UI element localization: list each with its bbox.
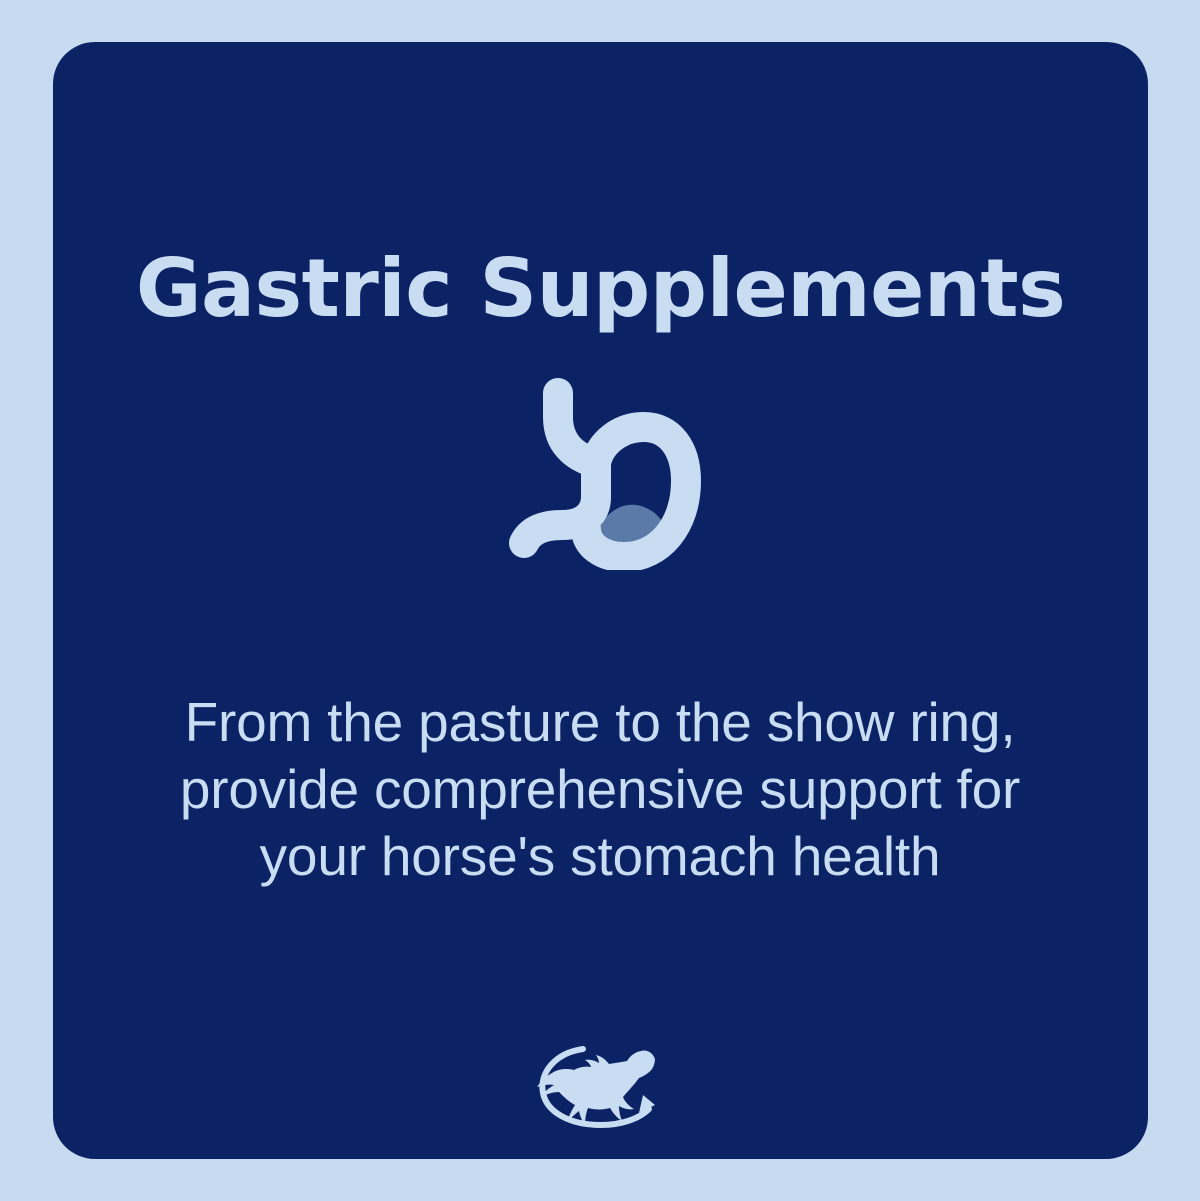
stomach-icon (496, 365, 706, 570)
page-canvas: Gastric Supplements From the pasture to … (0, 0, 1200, 1201)
tagline-text: From the pasture to the show ring, provi… (150, 689, 1050, 890)
page-title: Gastric Supplements (53, 249, 1148, 329)
stomach-icon-container (53, 342, 1148, 592)
gastric-supplements-card[interactable]: Gastric Supplements From the pasture to … (53, 42, 1148, 1159)
brand-logo-container[interactable] (53, 1027, 1148, 1147)
galloping-horse-logo (531, 1039, 671, 1135)
